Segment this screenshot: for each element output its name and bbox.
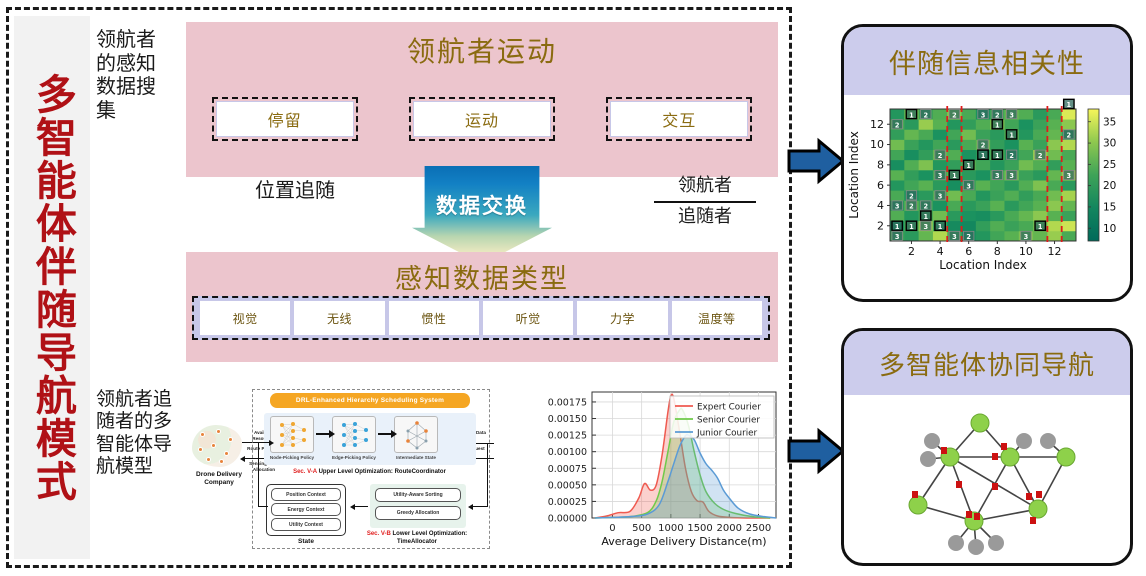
svg-text:8: 8 — [877, 158, 884, 171]
sensing-type-visual[interactable]: 视觉 — [200, 301, 290, 335]
svg-text:1: 1 — [909, 223, 914, 231]
svg-text:2: 2 — [877, 219, 884, 232]
correlation-panel-title: 伴随信息相关性 — [844, 27, 1130, 95]
svg-text:3: 3 — [895, 203, 900, 211]
svg-text:2: 2 — [981, 142, 986, 150]
node-picking-policy-icon — [270, 416, 314, 453]
svg-text:2: 2 — [1038, 152, 1043, 160]
right-to-lower-arrow — [472, 506, 488, 507]
kde-svg: 0.000000.000250.000500.000750.001000.001… — [530, 382, 782, 560]
svg-text:3: 3 — [895, 233, 900, 241]
svg-text:Location Index: Location Index — [847, 131, 861, 219]
svg-text:1: 1 — [1009, 132, 1014, 140]
motion-item-interact-label: 交互 — [610, 101, 748, 137]
svg-text:3: 3 — [1024, 233, 1029, 241]
svg-text:30: 30 — [1103, 138, 1116, 150]
fraction-denominator: 追随者 — [650, 205, 760, 229]
navigation-panel: 多智能体协同导航 — [841, 328, 1133, 566]
svg-text:12: 12 — [870, 118, 884, 131]
svg-text:Average Delivery Distance(m): Average Delivery Distance(m) — [601, 535, 766, 548]
svg-text:2500: 2500 — [746, 523, 771, 534]
fraction-bar — [654, 201, 756, 204]
svg-text:0.00175: 0.00175 — [548, 397, 587, 408]
svg-text:1000: 1000 — [658, 523, 683, 534]
vertical-title-text: 多智能体伴随导航模式 — [31, 73, 74, 503]
svg-text:1: 1 — [966, 162, 971, 170]
svg-text:Junior Courier: Junior Courier — [696, 428, 758, 438]
svg-text:0.00075: 0.00075 — [548, 464, 587, 475]
svg-text:3: 3 — [981, 111, 986, 119]
state-label: State — [266, 538, 346, 545]
drl-title-pill: DRL-Enhanced Hierarchy Scheduling System — [270, 393, 470, 408]
svg-text:1: 1 — [952, 172, 957, 180]
sensing-type-acoustic[interactable]: 听觉 — [483, 301, 573, 335]
svg-text:20: 20 — [1103, 180, 1116, 192]
motion-item-move-label: 运动 — [413, 101, 551, 137]
drone-delivery-cloud-icon — [192, 425, 242, 467]
multi-agent-graph — [844, 395, 1130, 565]
svg-text:2: 2 — [909, 193, 914, 201]
node-picking-policy-label: Node-Picking Policy — [262, 455, 322, 460]
leader-follower-fraction: 领航者 追随者 — [650, 175, 760, 229]
policy-arrow-1 — [316, 433, 330, 435]
svg-text:1: 1 — [1038, 223, 1043, 231]
navigation-panel-body — [844, 395, 1130, 563]
svg-text:3: 3 — [952, 233, 957, 241]
position-follow-text: 位置追随 — [255, 178, 335, 202]
greedy-allocation: Greedy Allocation — [375, 506, 461, 520]
state-position-context: Position Context — [271, 488, 341, 501]
motion-item-interact[interactable]: 交互 — [606, 97, 752, 141]
sensing-type-inertial[interactable]: 惯性 — [389, 301, 479, 335]
section-vb-caption: Sec. V-B Lower Level Optimization: TimeA… — [352, 531, 482, 546]
arrow-to-correlation-panel — [786, 137, 846, 185]
svg-text:15: 15 — [1103, 202, 1116, 214]
svg-text:3: 3 — [966, 182, 971, 190]
svg-text:10: 10 — [1103, 223, 1116, 235]
heatmap-svg: 1223231211222112213133332332211131133232… — [844, 95, 1130, 301]
motion-item-move[interactable]: 运动 — [409, 97, 555, 141]
svg-text:2000: 2000 — [717, 523, 742, 534]
svg-text:3: 3 — [938, 172, 943, 180]
state-utility-context: Utility Context — [271, 518, 341, 531]
data-exchange-label: 数据交换 — [436, 190, 528, 220]
svg-text:6: 6 — [877, 179, 884, 192]
svg-text:Location Index: Location Index — [939, 258, 1027, 272]
state-energy-context: Energy Context — [271, 503, 341, 516]
svg-text:0.00050: 0.00050 — [548, 480, 587, 491]
svg-text:1: 1 — [995, 152, 1000, 160]
drone-delivery-company-label: Drone Delivery Company — [188, 471, 250, 488]
fraction-numerator: 领航者 — [650, 175, 760, 199]
edge-picking-policy-icon — [332, 416, 376, 453]
svg-text:10: 10 — [870, 138, 884, 151]
section-va-caption: Sec. V-A Upper Level Optimization: Route… — [262, 469, 477, 475]
svg-text:1500: 1500 — [687, 523, 712, 534]
vertical-title-strip: 多智能体伴随导航模式 — [14, 16, 90, 559]
correlation-panel-body: 1223231211222112213133332332211131133232… — [844, 95, 1130, 299]
svg-text:2: 2 — [938, 152, 943, 160]
svg-text:25: 25 — [1103, 159, 1116, 171]
section-va-text: Upper Level Optimization: RouteCoordinat… — [319, 469, 446, 475]
svg-text:10: 10 — [1019, 245, 1033, 258]
utility-aware-sorting: Utility-Aware Sorting — [375, 488, 461, 502]
sensing-types-title: 感知数据类型 — [186, 252, 778, 296]
caption-sensing-collection: 领航者的感知数据搜集 — [96, 28, 174, 122]
svg-text:4: 4 — [937, 245, 944, 258]
svg-text:8: 8 — [994, 245, 1001, 258]
svg-text:2: 2 — [1009, 152, 1014, 160]
left-feedback-head — [258, 442, 270, 443]
drl-scheduling-diagram: Drone Delivery Company Available Resourc… — [192, 385, 494, 557]
svg-text:1: 1 — [981, 152, 986, 160]
svg-text:1: 1 — [938, 223, 943, 231]
svg-text:500: 500 — [632, 523, 651, 534]
intermediate-state-label: Intermediate State — [386, 455, 446, 460]
lower-to-state-arrow — [354, 506, 368, 507]
left-feedback-line — [258, 442, 259, 507]
svg-text:Senior Courier: Senior Courier — [697, 415, 760, 425]
svg-text:1: 1 — [1067, 101, 1072, 109]
svg-text:3: 3 — [1009, 111, 1014, 119]
svg-text:2: 2 — [952, 111, 957, 119]
svg-text:2: 2 — [966, 233, 971, 241]
motion-item-stay[interactable]: 停留 — [212, 97, 358, 141]
sensing-types-list: 视觉 无线 惯性 听觉 力学 温度等 — [192, 296, 770, 340]
svg-text:0: 0 — [609, 523, 615, 534]
svg-text:3: 3 — [1009, 172, 1014, 180]
svg-text:0.00100: 0.00100 — [548, 447, 587, 458]
right-feedback-line — [487, 443, 488, 507]
svg-text:2: 2 — [923, 203, 928, 211]
sensing-type-wireless[interactable]: 无线 — [294, 301, 384, 335]
correlation-panel: 伴随信息相关性 12232312112221122131333323322111… — [841, 24, 1133, 302]
sensing-type-mechanical[interactable]: 力学 — [577, 301, 667, 335]
delivery-distance-kde-chart: 0.000000.000250.000500.000750.001000.001… — [530, 382, 782, 560]
state-context-box: Position Context Energy Context Utility … — [266, 484, 346, 536]
motion-item-stay-label: 停留 — [216, 101, 354, 137]
svg-text:2: 2 — [995, 111, 1000, 119]
svg-text:2: 2 — [923, 111, 928, 119]
svg-text:1: 1 — [909, 111, 914, 119]
policy-arrow-2 — [378, 433, 392, 435]
svg-text:2: 2 — [1067, 132, 1072, 140]
position-follow-label: 位置追随 — [240, 178, 350, 202]
svg-text:6: 6 — [965, 245, 972, 258]
svg-text:1: 1 — [895, 223, 900, 231]
leader-motion-items: 停留 运动 交互 — [186, 96, 778, 142]
svg-text:3: 3 — [1067, 172, 1072, 180]
sensing-type-temperature[interactable]: 温度等 — [672, 301, 762, 335]
edge-picking-policy-label: Edge-Picking Policy — [324, 455, 384, 460]
svg-text:4: 4 — [877, 199, 884, 212]
svg-text:0.00000: 0.00000 — [548, 514, 587, 525]
navigation-panel-title: 多智能体协同导航 — [844, 331, 1130, 395]
section-vb-text: Lower Level Optimization: TimeAllocator — [393, 531, 468, 545]
svg-text:3: 3 — [938, 193, 943, 201]
svg-text:0.00150: 0.00150 — [548, 414, 587, 425]
arrow-to-navigation-panel — [786, 427, 846, 475]
graph-gray-nodes — [920, 433, 1056, 555]
section-vb-tag: Sec. V-B — [367, 531, 391, 537]
svg-text:3: 3 — [995, 172, 1000, 180]
svg-text:2: 2 — [908, 245, 915, 258]
svg-text:Expert Courier: Expert Courier — [697, 402, 761, 412]
svg-text:2: 2 — [895, 121, 900, 129]
section-va-tag: Sec. V-A — [293, 469, 317, 475]
leader-motion-title: 领航者运动 — [186, 22, 778, 70]
intermediate-state-icon — [394, 416, 438, 453]
svg-text:2: 2 — [909, 203, 914, 211]
svg-text:12: 12 — [1048, 245, 1062, 258]
caption-navigation-model: 领航者追随者的多智能体导航模型 — [96, 388, 180, 478]
svg-text:1: 1 — [923, 213, 928, 221]
svg-text:3: 3 — [923, 223, 928, 231]
lower-level-region: Utility-Aware Sorting Greedy Allocation — [370, 484, 466, 528]
svg-text:1: 1 — [995, 121, 1000, 129]
left-feedback-foot — [258, 506, 268, 507]
svg-text:35: 35 — [1103, 116, 1116, 128]
svg-text:0.00125: 0.00125 — [548, 431, 587, 442]
svg-text:0.00025: 0.00025 — [548, 497, 587, 508]
graph-green-nodes — [909, 414, 1075, 530]
